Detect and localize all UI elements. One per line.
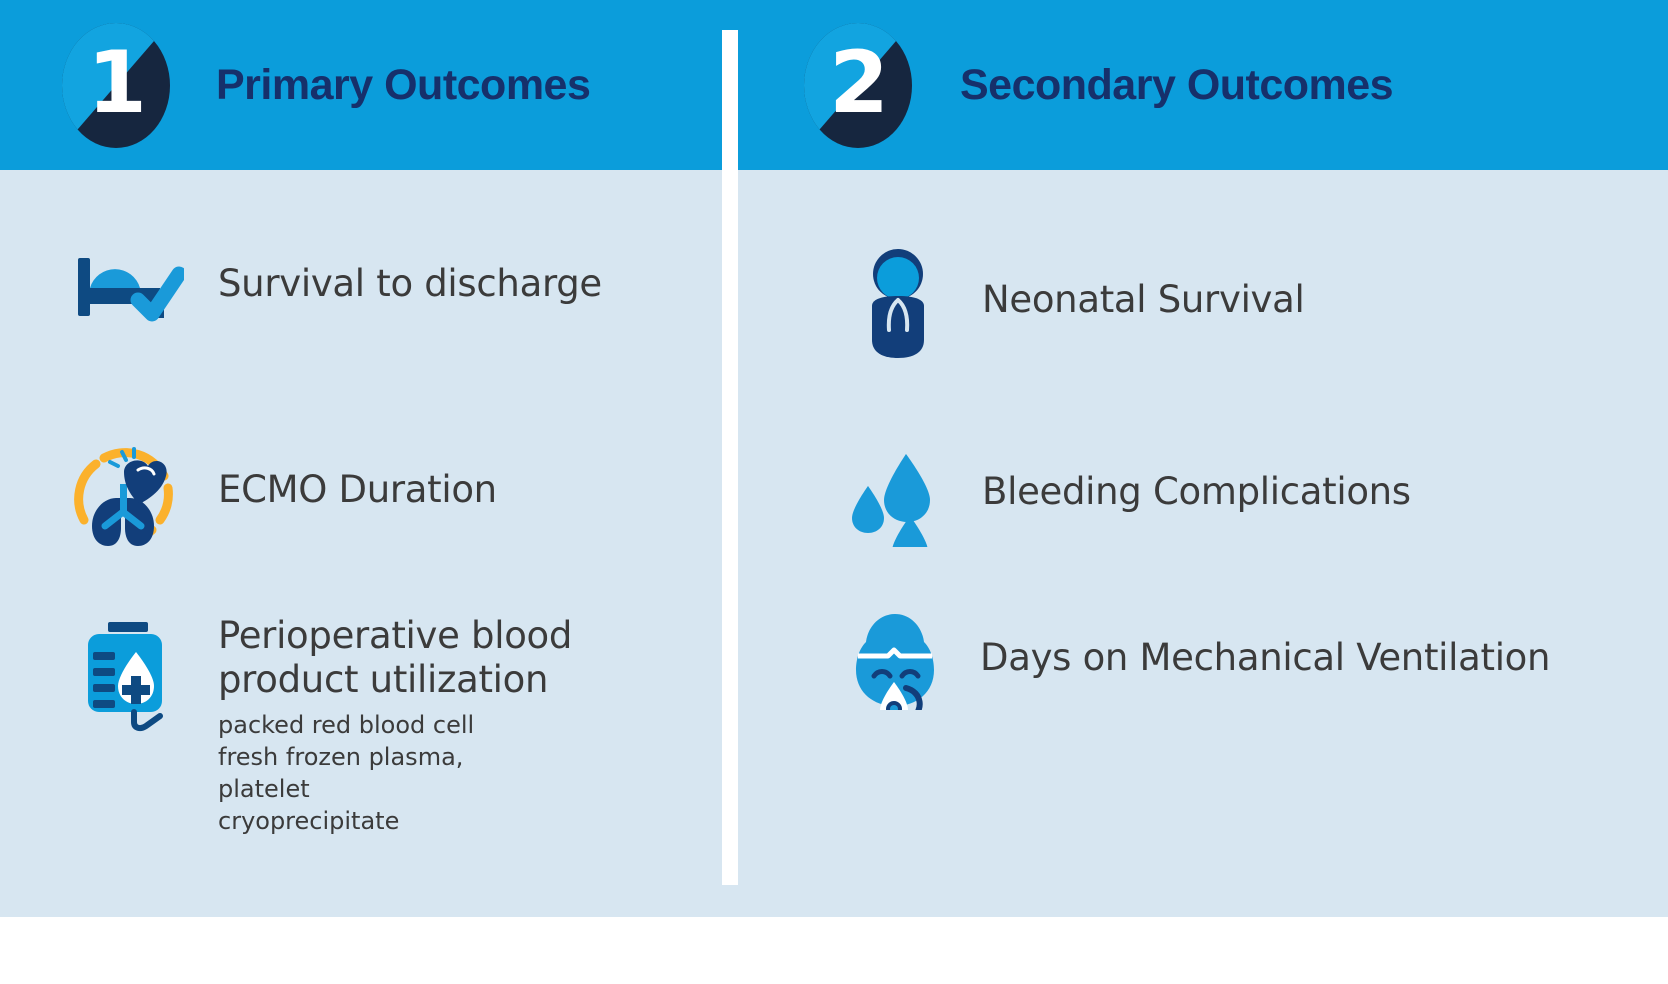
outcome-label: ECMO Duration bbox=[218, 468, 497, 512]
badge-number-1: 1 bbox=[62, 23, 170, 148]
column-divider bbox=[722, 30, 738, 885]
outcome-label: Days on Mechanical Ventilation bbox=[980, 636, 1550, 680]
outcome-label: Perioperative blood product utilization bbox=[218, 614, 572, 701]
outcome-item-neonatal-survival: Neonatal Survival bbox=[858, 248, 1305, 360]
outcome-label: Bleeding Complications bbox=[982, 470, 1411, 514]
primary-outcomes-title: Primary Outcomes bbox=[216, 61, 590, 110]
outcome-sublabel: packed red blood cell fresh frozen plasm… bbox=[218, 710, 572, 838]
lungs-heart-circular-arrow-icon bbox=[60, 432, 190, 557]
ventilated-infant-icon bbox=[848, 610, 942, 710]
outcome-label: Neonatal Survival bbox=[982, 278, 1305, 322]
outcome-text-wrap: ECMO Duration bbox=[218, 468, 497, 512]
outcome-label: Survival to discharge bbox=[218, 262, 602, 306]
outcome-text-wrap: Bleeding Complications bbox=[982, 470, 1411, 514]
outcome-item-survival-to-discharge: Survival to discharge bbox=[78, 252, 602, 322]
secondary-outcomes-column: Neonatal Survival Bleeding Complications bbox=[738, 170, 1668, 917]
column-header-secondary: 2 Secondary Outcomes bbox=[734, 0, 1668, 170]
secondary-outcomes-title: Secondary Outcomes bbox=[960, 61, 1393, 110]
outcome-item-bleeding-complications: Bleeding Complications bbox=[850, 442, 1411, 547]
badge-number-label: 1 bbox=[62, 23, 170, 148]
outcome-text-wrap: Perioperative blood product utilization … bbox=[218, 614, 572, 838]
outcomes-board: 1 Primary Outcomes 2 Secondary Outcomes bbox=[0, 0, 1668, 917]
outcome-text-wrap: Neonatal Survival bbox=[982, 278, 1305, 322]
outcome-text-wrap: Survival to discharge bbox=[218, 262, 602, 306]
badge-number-label: 2 bbox=[804, 23, 912, 148]
outcome-text-wrap: Days on Mechanical Ventilation bbox=[980, 636, 1550, 680]
hospital-bed-check-icon bbox=[78, 252, 184, 322]
outcome-item-ecmo-duration: ECMO Duration bbox=[60, 432, 497, 557]
swaddled-baby-icon bbox=[858, 248, 938, 360]
column-header-primary: 1 Primary Outcomes bbox=[0, 0, 734, 170]
blood-bag-icon bbox=[74, 622, 186, 732]
blood-droplets-icon bbox=[850, 442, 942, 547]
badge-number-2: 2 bbox=[804, 23, 912, 148]
primary-outcomes-column: Survival to discharge bbox=[0, 170, 722, 917]
outcome-item-blood-product-utilization: Perioperative blood product utilization … bbox=[74, 622, 572, 838]
outcome-item-mechanical-ventilation: Days on Mechanical Ventilation bbox=[848, 610, 1550, 710]
